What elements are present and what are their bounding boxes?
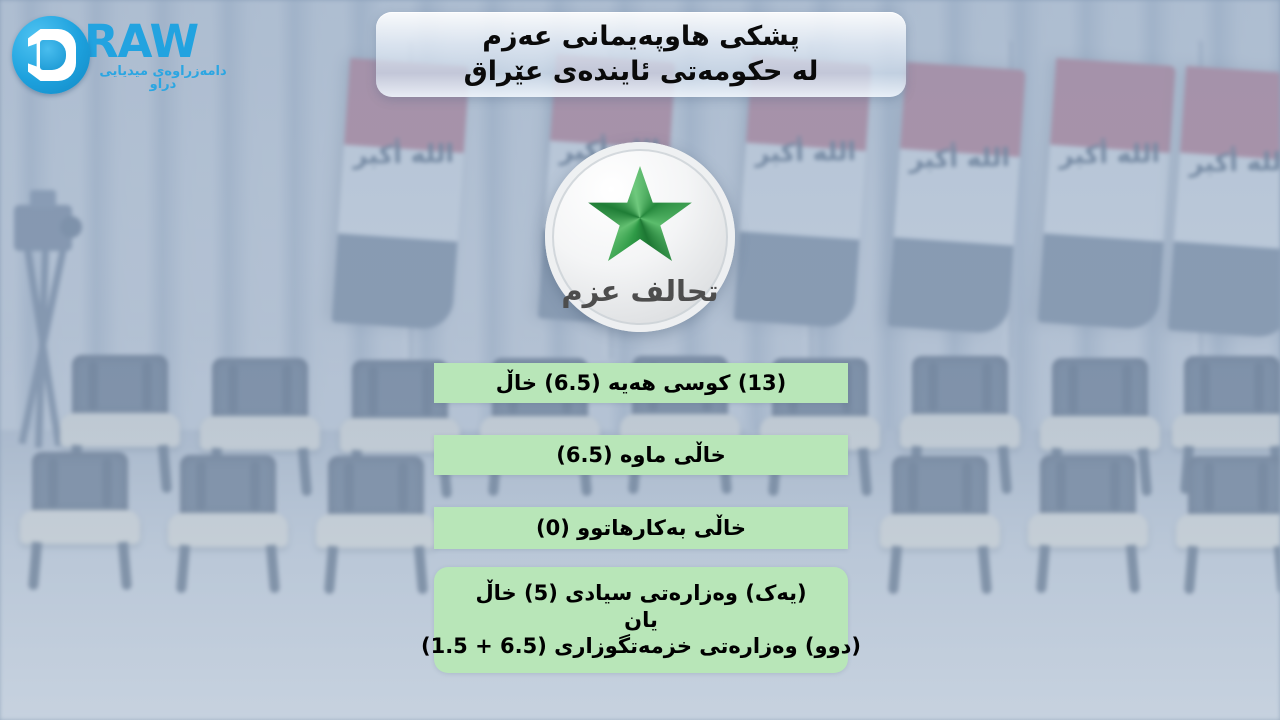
draw-logo[interactable]: RAW دامەزراوەی میدیایی دراو bbox=[12, 14, 242, 96]
callout-points-used: خاڵی بەکارهاتوو (0) bbox=[434, 507, 848, 549]
callout-seats-available: (13) کوسی هەیە (6.5) خاڵ bbox=[434, 363, 848, 403]
emblem-label: تحالف عزم bbox=[561, 274, 718, 308]
callout-ministry-options: (یەک) وەزارەتی سیادی (5) خاڵ یان (دوو) و… bbox=[434, 567, 848, 673]
callout-points-remaining: خاڵی ماوە (6.5) bbox=[434, 435, 848, 475]
callout-line: خاڵی بەکارهاتوو (0) bbox=[536, 515, 746, 542]
callout-line: (دوو) وەزارەتی خزمەتگوزاری (6.5 + 1.5) bbox=[421, 633, 861, 660]
azm-alliance-emblem: تحالف عزم bbox=[545, 142, 735, 332]
draw-d-circle-icon bbox=[12, 16, 90, 94]
headline-line-2: لە حکومەتی ئایندەی عێراق bbox=[464, 56, 819, 89]
headline-banner: پشکی هاوپەیمانی عەزم لە حکومەتی ئایندەی … bbox=[376, 12, 906, 97]
callout-line: یان bbox=[624, 607, 658, 634]
brand-wordmark-text: RAW bbox=[84, 15, 198, 68]
callout-line: خاڵی ماوە (6.5) bbox=[556, 442, 726, 469]
infographic-canvas: الله أكبر الله أكبر الله أكبر الله أكبر … bbox=[0, 0, 1280, 720]
draw-wordmark: RAW دامەزراوەی میدیایی دراو bbox=[84, 19, 242, 91]
headline-line-1: پشکی هاوپەیمانی عەزم bbox=[482, 21, 800, 54]
callout-line: (یەک) وەزارەتی سیادی (5) خاڵ bbox=[475, 580, 806, 607]
callout-line: (13) کوسی هەیە (6.5) خاڵ bbox=[496, 370, 787, 397]
five-point-star-icon bbox=[586, 166, 694, 270]
brand-subtitle-text: دامەزراوەی میدیایی دراو bbox=[84, 65, 242, 91]
